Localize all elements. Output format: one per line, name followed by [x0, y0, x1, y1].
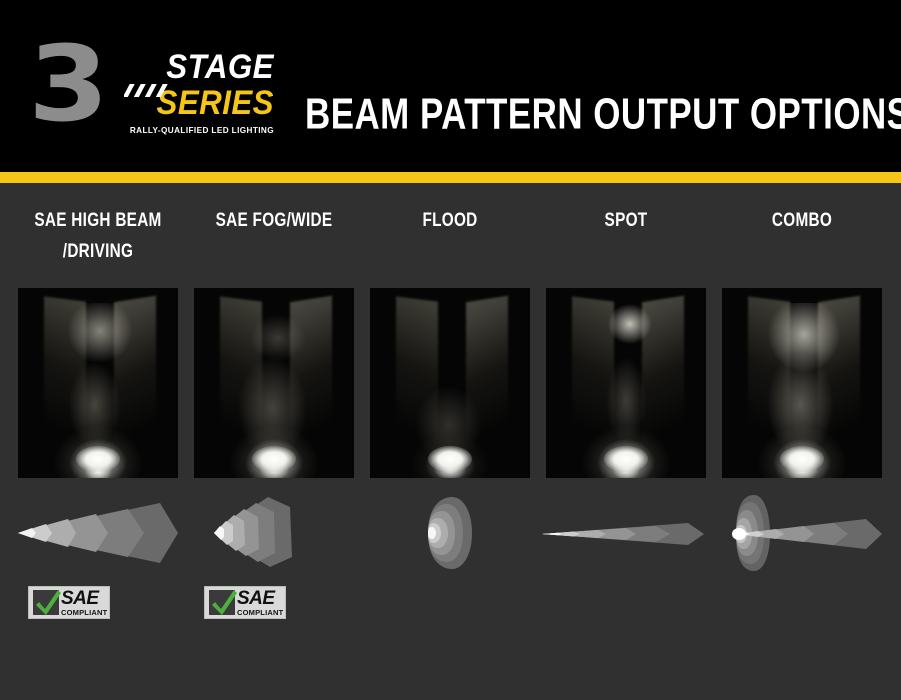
logo-word-stage: STAGE: [127, 50, 274, 84]
beam-photo-spot: [546, 288, 706, 478]
header-bar: 3 STAGE SERIES RALLY-QUALIFIED LED LIGHT…: [0, 0, 901, 172]
beam-shape-flood: [362, 493, 538, 573]
beam-option-spot: SPOT: [538, 183, 714, 700]
beam-option-sae-high-beam-driving: SAE HIGH BEAM /DRIVING: [10, 183, 186, 700]
sae-badge-line1: SAE: [61, 589, 107, 608]
beam-option-combo: COMBO: [714, 183, 890, 700]
sae-compliant-badge: SAE COMPLIANT: [204, 586, 286, 619]
beam-option-label: COMBO: [720, 205, 884, 236]
beam-option-label: FLOOD: [368, 205, 532, 236]
check-icon: [209, 590, 235, 615]
beam-shape-sae-high-beam-driving: [10, 493, 186, 573]
beam-pattern-infographic: 3 STAGE SERIES RALLY-QUALIFIED LED LIGHT…: [0, 0, 901, 700]
beam-shape-sae-fog-wide: [186, 493, 362, 573]
beam-option-label: SPOT: [544, 205, 708, 236]
logo-speed-stripes-icon: [124, 84, 176, 97]
brand-logo: 3 STAGE SERIES RALLY-QUALIFIED LED LIGHT…: [28, 32, 273, 140]
beam-option-label: SAE HIGH BEAM /DRIVING: [16, 205, 180, 266]
beam-photo-combo: [722, 288, 882, 478]
logo-tagline: RALLY-QUALIFIED LED LIGHTING: [114, 126, 274, 135]
check-icon: [33, 590, 59, 615]
logo-numeral-3: 3: [28, 32, 102, 136]
sae-badge-text: SAE COMPLIANT: [237, 589, 283, 617]
sae-badge-line2: COMPLIANT: [237, 609, 283, 617]
beam-photo-sae-high-beam-driving: [18, 288, 178, 478]
beam-photo-sae-fog-wide: [194, 288, 354, 478]
beam-shape-spot: [538, 493, 714, 573]
accent-divider: [0, 172, 901, 183]
beam-option-sae-fog-wide: SAE FOG/WIDE: [186, 183, 362, 700]
beam-option-flood: FLOOD: [362, 183, 538, 700]
sae-badge-line1: SAE: [237, 589, 283, 608]
beam-shape-combo: [714, 493, 890, 573]
sae-badge-line2: COMPLIANT: [61, 609, 107, 617]
beam-options-grid: SAE HIGH BEAM /DRIVING: [0, 183, 901, 700]
beam-option-label: SAE FOG/WIDE: [192, 205, 356, 236]
page-title: BEAM PATTERN OUTPUT OPTIONS: [305, 88, 901, 139]
beam-photo-flood: [370, 288, 530, 478]
sae-compliant-badge: SAE COMPLIANT: [28, 586, 110, 619]
sae-badge-text: SAE COMPLIANT: [61, 589, 107, 617]
